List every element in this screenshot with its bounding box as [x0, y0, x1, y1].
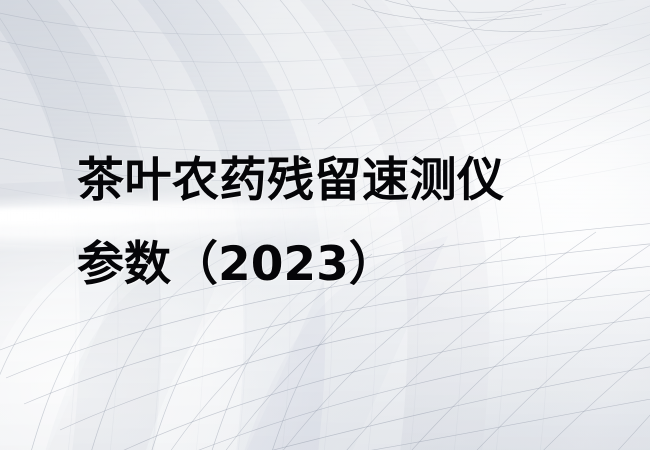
title-block: 茶叶农药残留速测仪 参数（2023）	[77, 139, 597, 307]
banner-graphic: 茶叶农药残留速测仪 参数（2023）	[0, 0, 650, 450]
title-line-primary: 茶叶农药残留速测仪	[77, 139, 597, 223]
title-line-secondary: 参数（2023）	[77, 223, 597, 307]
